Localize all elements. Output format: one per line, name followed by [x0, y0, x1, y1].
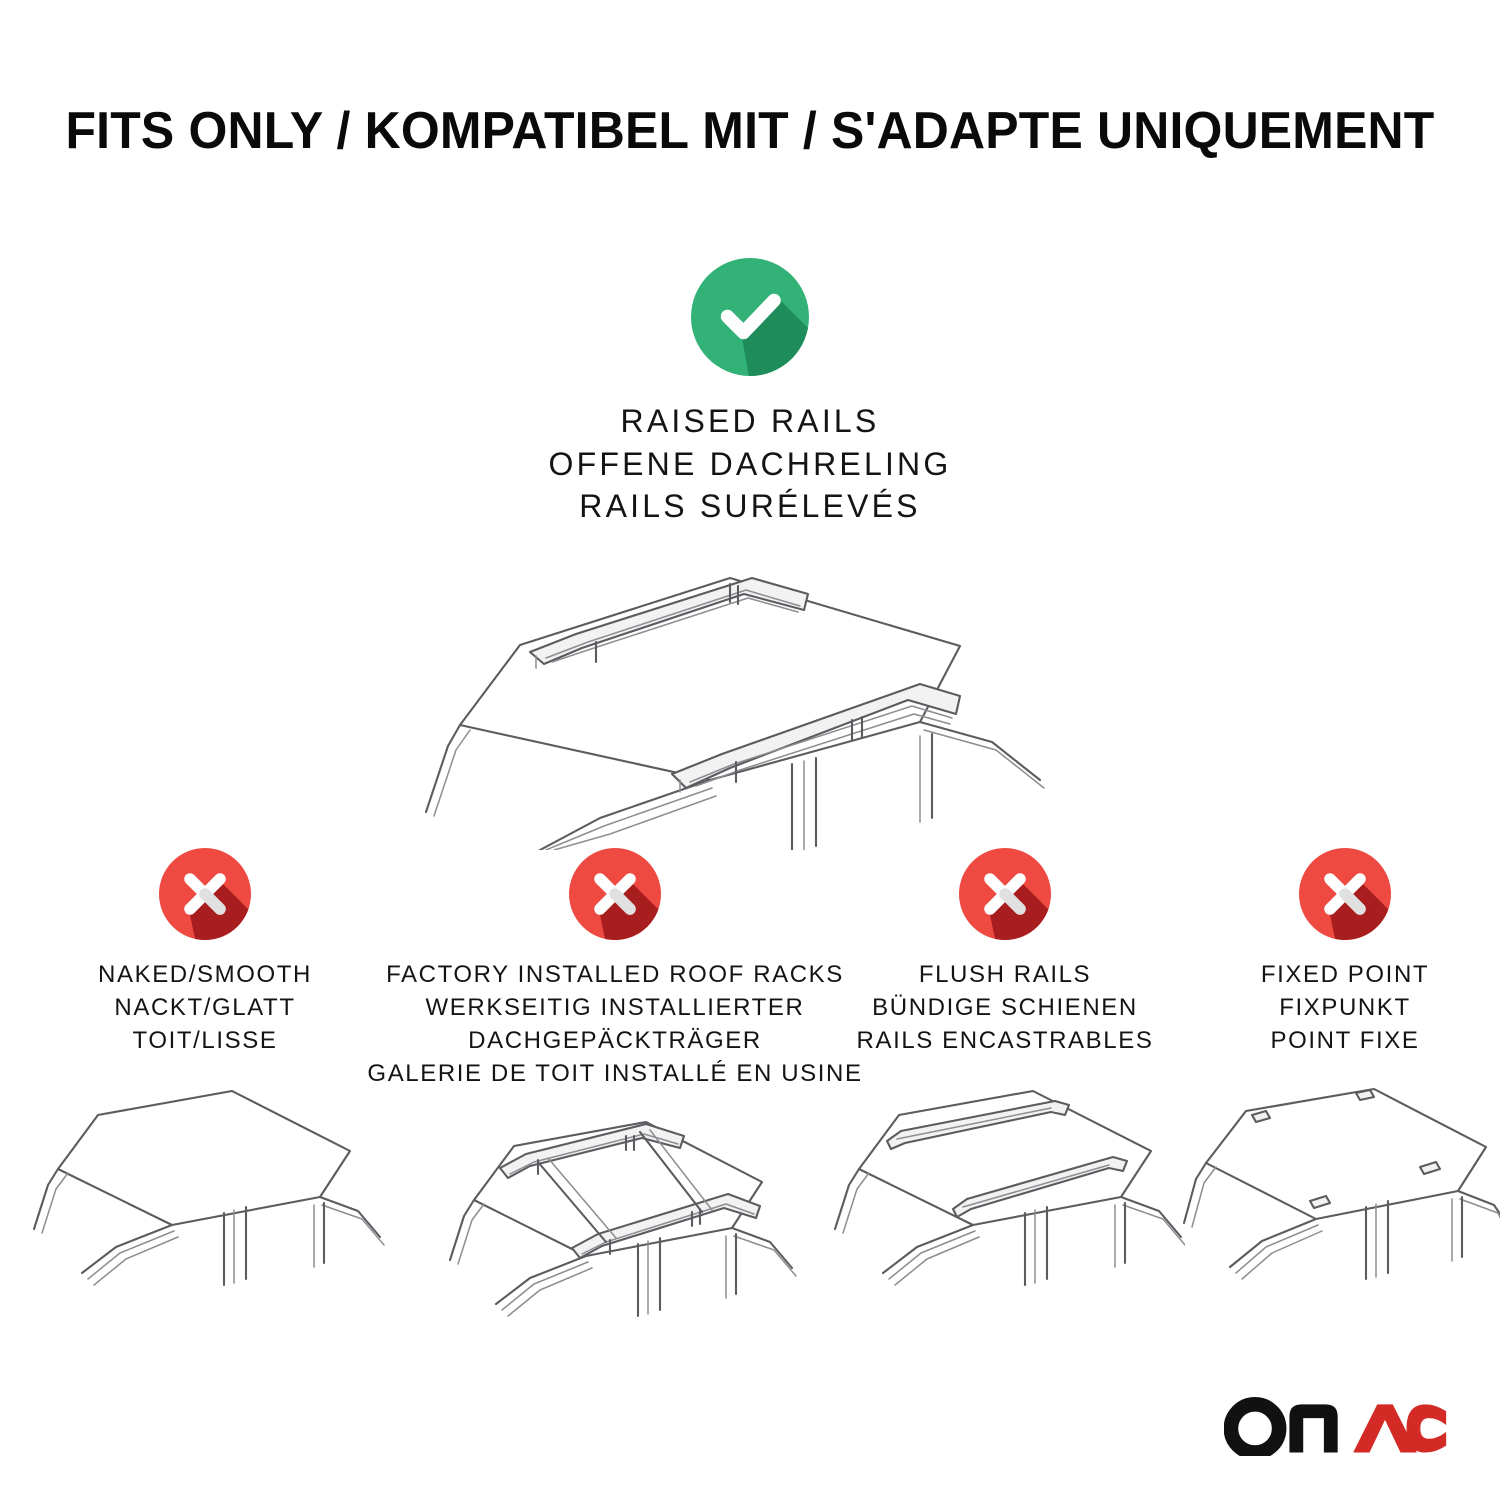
header: FITS ONLY / KOMPATIBEL MIT / S'ADAPTE UN… [0, 104, 1500, 159]
incompatible-label-flush-rails: FLUSH RAILS BÜNDIGE SCHIENEN RAILS ENCAS… [857, 958, 1154, 1057]
label-de: NACKT/GLATT [98, 991, 312, 1024]
compatible-label-fr: RAILS SURÉLEVÉS [0, 485, 1500, 528]
label-de-2: DACHGEPÄCKTRÄGER [367, 1024, 862, 1057]
compatible-section: RAISED RAILS OFFENE DACHRELING RAILS SUR… [0, 258, 1500, 850]
incompatible-section: NAKED/SMOOTH NACKT/GLATT TOIT/LISSE [0, 848, 1500, 1342]
compatible-label: RAISED RAILS OFFENE DACHRELING RAILS SUR… [0, 400, 1500, 528]
omac-logo [1224, 1394, 1448, 1456]
compatible-label-en: RAISED RAILS [0, 400, 1500, 443]
incompatible-item-naked-smooth: NAKED/SMOOTH NACKT/GLATT TOIT/LISSE [0, 848, 410, 1309]
label-fr: POINT FIXE [1261, 1024, 1429, 1057]
compatible-label-de: OFFENE DACHRELING [0, 443, 1500, 486]
label-en: FIXED POINT [1261, 958, 1429, 991]
label-fr: RAILS ENCASTRABLES [857, 1024, 1154, 1057]
page-title: FITS ONLY / KOMPATIBEL MIT / S'ADAPTE UN… [30, 104, 1470, 159]
car-roof-fixed-point-illustration [1180, 1079, 1500, 1309]
label-en: FLUSH RAILS [857, 958, 1154, 991]
cross-circle-icon [159, 848, 251, 940]
car-roof-raised-rails-illustration [0, 550, 1500, 850]
label-en: NAKED/SMOOTH [98, 958, 312, 991]
label-de-1: WERKSEITIG INSTALLIERTER [367, 991, 862, 1024]
car-roof-naked-smooth-illustration [20, 1079, 390, 1309]
cross-circle-icon [569, 848, 661, 940]
cross-circle-icon [1299, 848, 1391, 940]
incompatible-label-fixed-point: FIXED POINT FIXPUNKT POINT FIXE [1261, 958, 1429, 1057]
label-fr: GALERIE DE TOIT INSTALLÉ EN USINE [367, 1057, 862, 1090]
label-de: FIXPUNKT [1261, 991, 1429, 1024]
incompatible-item-factory-roof-racks: FACTORY INSTALLED ROOF RACKS WERKSEITIG … [410, 848, 820, 1342]
incompatible-label-factory-roof-racks: FACTORY INSTALLED ROOF RACKS WERKSEITIG … [367, 958, 862, 1090]
car-roof-factory-roof-racks-illustration [430, 1112, 800, 1342]
label-de: BÜNDIGE SCHIENEN [857, 991, 1154, 1024]
cross-circle-icon [959, 848, 1051, 940]
incompatible-item-flush-rails: FLUSH RAILS BÜNDIGE SCHIENEN RAILS ENCAS… [820, 848, 1190, 1309]
check-circle-icon [691, 258, 809, 376]
label-en: FACTORY INSTALLED ROOF RACKS [367, 958, 862, 991]
car-roof-flush-rails-illustration [825, 1079, 1185, 1309]
label-fr: TOIT/LISSE [98, 1024, 312, 1057]
incompatible-label-naked-smooth: NAKED/SMOOTH NACKT/GLATT TOIT/LISSE [98, 958, 312, 1057]
incompatible-item-fixed-point: FIXED POINT FIXPUNKT POINT FIXE [1190, 848, 1500, 1309]
